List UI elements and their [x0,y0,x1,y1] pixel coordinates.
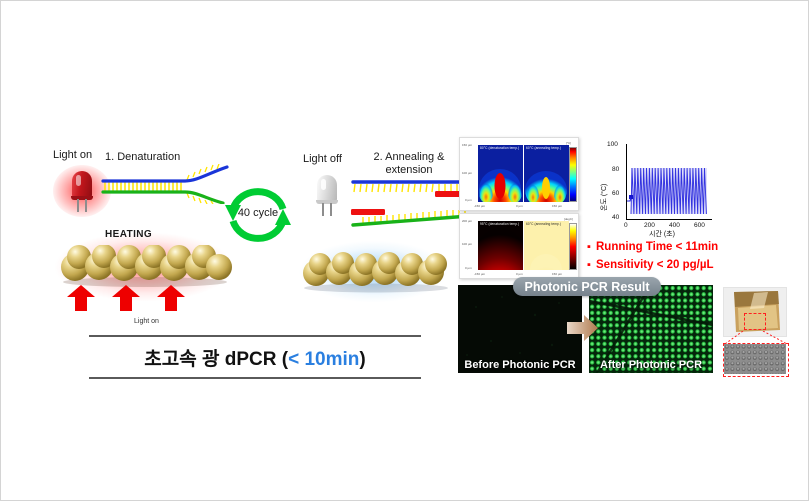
simulation-card-top: 150 µm 100 µm 0 µm -150 µm 0 µm 150 µm [… [459,137,579,211]
after-caption: After Photonic PCR [589,359,713,371]
sim-bot-x-left: -150 µm [474,272,485,276]
dna-denaturation-icon [101,164,231,204]
sim-bot-left-panel: 95°C (denaturation temp.) [478,221,523,270]
sim-top-left-tag: 80°C (denaturation temp.) [480,146,519,150]
sim-top-left-panel: 80°C (denaturation temp.) [478,145,523,202]
bullet-icon: ▪ [587,241,596,253]
figure-title-block: 초고속 광 dPCR (< 10min) [89,335,421,379]
sim-top-right-heatmap [524,145,569,202]
led-leg-left [322,203,324,216]
sim-top-y-bot: 0 µm [465,198,472,202]
sim-top-y-mid: 100 µm [462,171,472,175]
title-rule-bottom [89,377,421,379]
thermal-cycling-chart: 온도 (°C) 100 80 60 40 0 200 400 600 [593,137,723,237]
chart-y-axis-label: 온도 (°C) [599,184,609,211]
before-caption: Before Photonic PCR [458,359,582,371]
step1-light-label-group: Light on [53,149,92,161]
led-base [71,196,93,200]
step1-light-label: Light on [53,149,92,161]
chip-roi-box [744,313,766,330]
step1-bottom-light-label: Light on [134,318,159,325]
metric-sensitivity-text: Sensitivity < 20 pg/µL [596,259,714,271]
step1-title: 1. Denaturation [105,151,180,164]
metric-sensitivity: ▪Sensitivity < 20 pg/µL [587,259,714,271]
heating-label: HEATING [105,229,152,240]
chart-ytick-60: 60 [612,190,619,197]
step2-title-line1: 2. Annealing & [359,151,459,164]
red-up-arrow-icon [65,285,205,311]
chart-ytick-40: 40 [612,214,619,221]
sim-bot-right-heatmap [524,221,569,270]
sim-bot-left-heatmap [478,221,523,270]
badge-label: Photonic PCR Result [524,280,649,294]
sim-top-x-mid: 0 µm [516,204,523,208]
gold-nanoparticle-chain-hot [57,245,235,287]
led-off-icon [304,167,350,221]
chart-xtick-200: 200 [644,222,655,229]
before-photonic-pcr-image: Before Photonic PCR [458,285,582,373]
sim-bot-y-bot: 0 µm [465,266,472,270]
sim-top-left-heatmap [478,145,523,202]
figure-canvas: Light on 1. Denaturation [0,0,809,501]
after-photonic-pcr-image: After Photonic PCR [589,285,713,373]
dna-annealing-top-icon [351,177,471,203]
metric-running-time-text: Running Time < 11min [596,241,718,253]
chart-x-axis-label: 시간 (초) [649,229,675,239]
led-leg-right [330,203,332,216]
cycle-label: 40 cycle [219,207,297,219]
chart-series-photonic-pcr [627,144,713,220]
metric-running-time: ▪Running Time < 11min [587,241,718,253]
cooling-nanoparticle-panel [286,229,461,311]
sim-top-right-panel: 60°C (annealing temp.) [524,145,569,202]
sim-top-colorbar [569,147,577,202]
chart-xtick-0: 0 [624,222,628,229]
bullet-icon: ▪ [587,259,596,271]
sim-bot-left-tag: 95°C (denaturation temp.) [480,222,519,226]
led-leg-left [77,199,79,212]
title-korean: 초고속 광 dPCR ( [144,349,288,370]
right-arrow-icon [567,313,599,343]
sim-bot-y-top: 200 µm [462,219,472,223]
sim-bot-colorbar [569,223,577,270]
sim-top-y-top: 150 µm [462,143,472,147]
title-highlight: < 10min [288,349,359,370]
sim-bot-x-mid: 0 µm [516,272,523,276]
led-leg-right [85,199,87,212]
led-base [316,200,338,204]
gold-nanoparticle-chain-cool [300,251,452,293]
microwell-array-image [724,344,786,374]
chart-ytick-100: 100 [607,141,618,148]
sim-bot-right-tag: 60°C (annealing temp.) [526,222,561,226]
sim-top-x-right: 150 µm [552,204,562,208]
chart-ytick-80: 80 [612,166,619,173]
photonic-pcr-result-badge: Photonic PCR Result [513,277,661,296]
step2-title: 2. Annealing & extension [359,151,459,176]
sim-top-x-left: -150 µm [474,204,485,208]
chart-plot-area [626,144,712,220]
led-bulb [317,175,337,202]
sim-top-right-tag: 60°C (annealing temp.) [526,146,561,150]
sim-bot-y-mid: 100 µm [462,242,472,246]
led-bulb [72,171,92,198]
chart-xtick-400: 400 [669,222,680,229]
microwell-array-zoom [723,343,789,377]
led-on-icon [59,163,105,217]
step2-light-label: Light off [303,153,342,165]
heating-nanoparticle-panel: HEATING [39,219,249,311]
sim-bot-x-right: 150 µm [552,272,562,276]
simulation-card-bottom: 200 µm 100 µm 0 µm -150 µm 0 µm 150 µm [… [459,213,579,279]
sim-bot-right-panel: 60°C (annealing temp.) [524,221,569,270]
dna-annealing-bottom-icon [349,203,473,229]
page-title: 초고속 광 dPCR (< 10min) [89,337,421,377]
gold-pdms-chip-photo [723,287,787,337]
step2-title-line2: extension [359,164,459,177]
title-suffix: ) [359,349,365,370]
chart-xtick-600: 600 [694,222,705,229]
